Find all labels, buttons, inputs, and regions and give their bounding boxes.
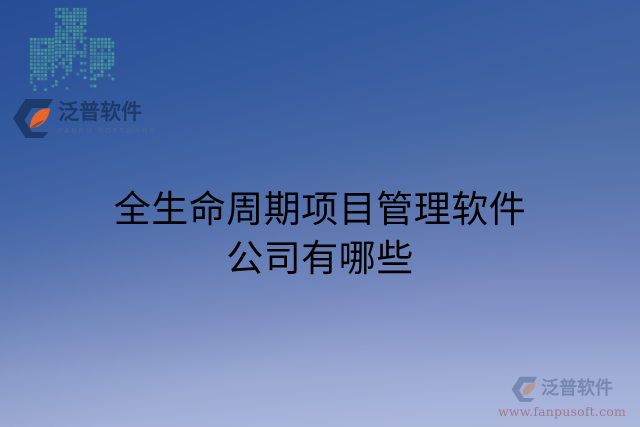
fanpu-hexagon-swoosh-logo-icon bbox=[511, 376, 538, 402]
fanpu-hexagon-swoosh-logo-icon bbox=[12, 98, 54, 138]
brand-name-en: FANPU SOFTWARE bbox=[58, 127, 157, 135]
page-title-line-2: 公司有哪些 bbox=[0, 234, 640, 283]
poster-canvas: 泛普软件 FANPU SOFTWARE 全生命周期项目管理软件 公司有哪些 泛普… bbox=[0, 0, 640, 427]
pixel-city-skyline-icon bbox=[28, 6, 124, 92]
watermark: 泛普软件 www.fanpusoft.com bbox=[492, 376, 632, 419]
brand-name-cn: 泛普软件 bbox=[58, 102, 157, 123]
watermark-brand-row: 泛普软件 bbox=[511, 376, 613, 402]
watermark-url: www.fanpusoft.com bbox=[498, 404, 626, 419]
watermark-brand-name: 泛普软件 bbox=[541, 380, 613, 398]
page-title-line-1: 全生命周期项目管理软件 bbox=[0, 185, 640, 234]
brand-logo: 泛普软件 FANPU SOFTWARE bbox=[12, 94, 162, 142]
page-title: 全生命周期项目管理软件 公司有哪些 bbox=[0, 185, 640, 283]
